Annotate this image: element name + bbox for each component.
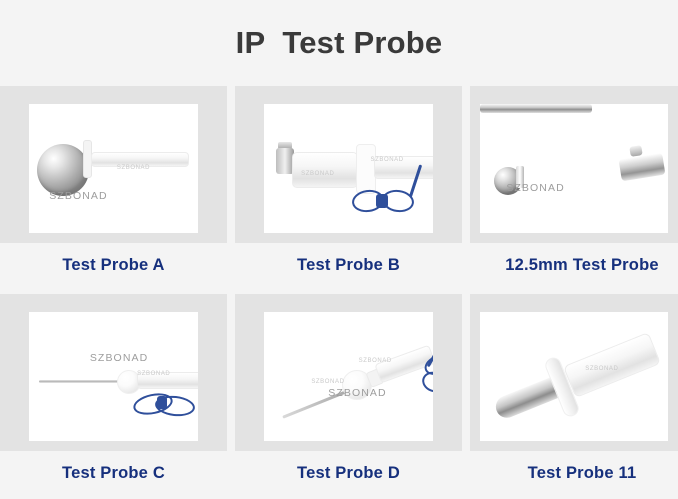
collar-icon (356, 144, 376, 194)
product-card-12-5mm-test-probe[interactable]: SZBONAD 12.5mm Test Probe (470, 86, 678, 288)
collar-icon (516, 166, 524, 188)
probe-illustration (264, 312, 433, 441)
handle-icon (137, 372, 198, 389)
product-card-test-probe-b[interactable]: SZBONAD SZBONAD Test Probe B (235, 86, 462, 288)
product-label-test-probe-b[interactable]: Test Probe B (235, 243, 462, 288)
product-image-container: SZBONAD (470, 86, 678, 243)
wire-tip-icon (39, 380, 123, 383)
page-title: IP Test Probe (236, 25, 443, 61)
ip-test-probe-page: IP Test Probe SZBONAD SZBONAD Test Probe… (0, 0, 678, 499)
cord-loop-icon (419, 368, 433, 395)
product-photo-test-probe-c: SZBONAD SZBONAD (29, 312, 198, 441)
head-icon (619, 153, 666, 182)
product-label-test-probe-c[interactable]: Test Probe C (0, 451, 227, 496)
product-card-test-probe-11[interactable]: SZBONAD Test Probe 11 (470, 294, 678, 496)
handle-icon (374, 156, 433, 179)
probe-illustration (264, 104, 433, 233)
product-image-container: SZBONAD SZBONAD (0, 86, 227, 243)
cord-knot-icon (376, 194, 388, 208)
body-icon (292, 152, 358, 188)
product-image-container: SZBONAD (470, 294, 678, 451)
probe-illustration (480, 312, 668, 441)
product-image-container: SZBONAD SZBONAD SZBONAD (235, 294, 462, 451)
probe-illustration (29, 312, 198, 441)
handle-icon (91, 152, 189, 167)
probe-illustration (29, 104, 198, 233)
page-header: IP Test Probe (0, 0, 678, 86)
product-card-test-probe-a[interactable]: SZBONAD SZBONAD Test Probe A (0, 86, 227, 288)
needle-icon (282, 388, 352, 418)
product-photo-test-probe-b: SZBONAD SZBONAD (264, 104, 433, 233)
handle-icon (563, 332, 661, 398)
screw-icon (629, 145, 642, 157)
product-photo-12-5mm-test-probe: SZBONAD (480, 104, 668, 233)
product-label-test-probe-11[interactable]: Test Probe 11 (470, 451, 678, 496)
product-photo-test-probe-11: SZBONAD (480, 312, 668, 441)
product-image-container: SZBONAD SZBONAD (0, 294, 227, 451)
product-image-container: SZBONAD SZBONAD (235, 86, 462, 243)
rod-icon (480, 104, 592, 113)
product-label-test-probe-d[interactable]: Test Probe D (235, 451, 462, 496)
cord-knot-icon (157, 396, 167, 409)
product-photo-test-probe-a: SZBONAD SZBONAD (29, 104, 198, 233)
product-card-test-probe-c[interactable]: SZBONAD SZBONAD Test Probe C (0, 294, 227, 496)
product-label-test-probe-a[interactable]: Test Probe A (0, 243, 227, 288)
product-photo-test-probe-d: SZBONAD SZBONAD SZBONAD (264, 312, 433, 441)
product-label-12-5mm-test-probe[interactable]: 12.5mm Test Probe (470, 243, 678, 288)
product-grid: SZBONAD SZBONAD Test Probe A (0, 86, 678, 499)
probe-illustration (480, 104, 668, 233)
product-card-test-probe-d[interactable]: SZBONAD SZBONAD SZBONAD Test Probe D (235, 294, 462, 496)
sphere-tip-icon (37, 144, 89, 196)
